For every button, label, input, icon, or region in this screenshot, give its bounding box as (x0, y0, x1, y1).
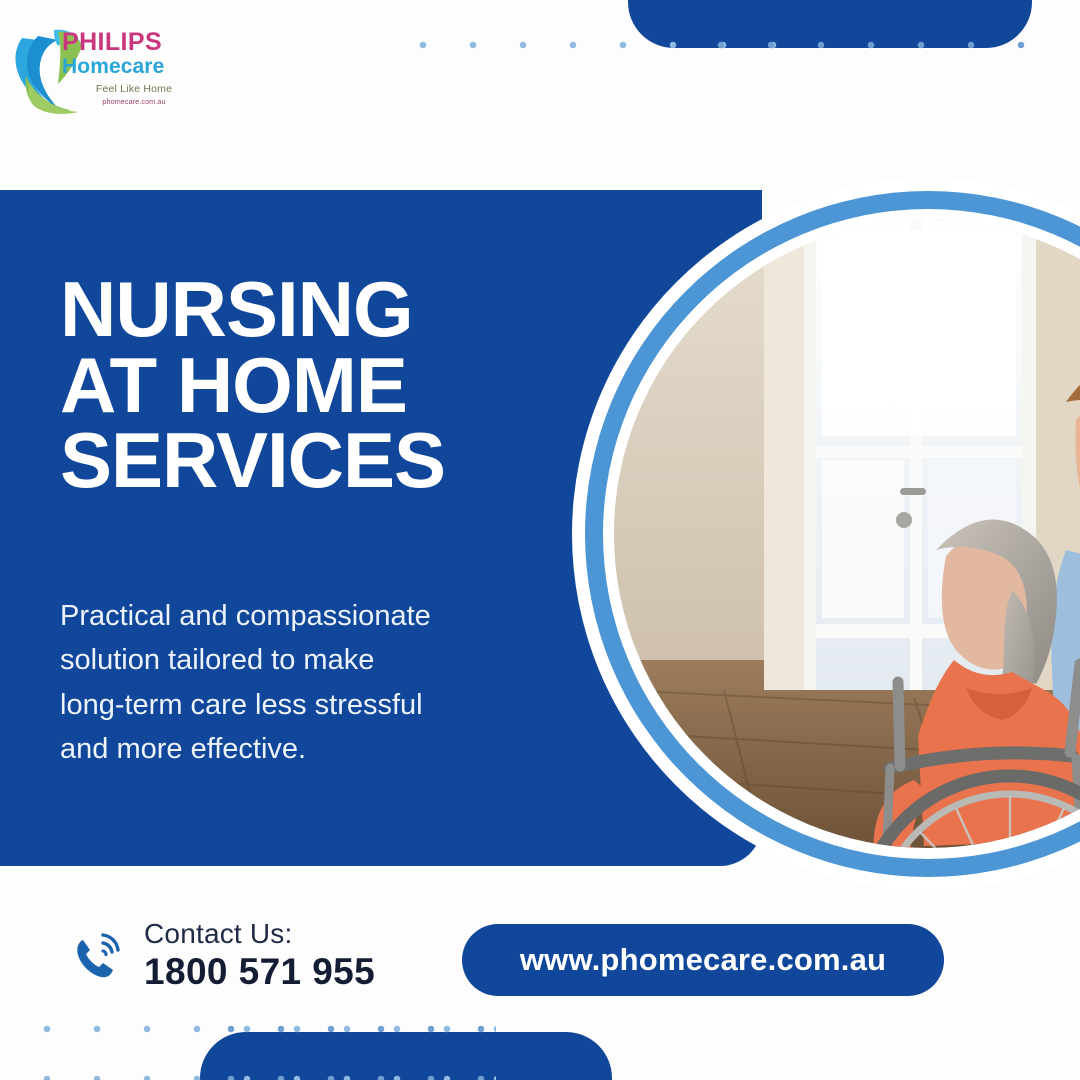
contact-block[interactable]: Contact Us: 1800 571 955 (70, 920, 375, 990)
phone-call-icon (70, 928, 124, 982)
website-button[interactable]: www.phomecare.com.au (462, 924, 944, 996)
logo-url: phomecare.com.au (76, 97, 192, 106)
logo-tagline: Feel Like Home (76, 83, 192, 95)
logo-wordmark: PHILIPS Homecare Feel Like Home phomecar… (62, 30, 192, 106)
poster-canvas: PHILIPS Homecare Feel Like Home phomecar… (0, 0, 1080, 1080)
page-title: NURSING AT HOME SERVICES (60, 272, 620, 499)
contact-text-group: Contact Us: 1800 571 955 (144, 920, 375, 990)
subtitle-line-2: solution tailored to make (60, 638, 580, 682)
logo-name-homecare: Homecare (62, 56, 192, 79)
logo-name-philips: PHILIPS (62, 30, 192, 56)
page-subtitle: Practical and compassionate solution tai… (60, 594, 580, 771)
headline-line-3: SERVICES (60, 423, 620, 499)
headline-line-1: NURSING (60, 272, 620, 348)
brand-logo[interactable]: PHILIPS Homecare Feel Like Home phomecar… (14, 22, 192, 134)
contact-phone-number[interactable]: 1800 571 955 (144, 953, 375, 990)
headline-line-2: AT HOME (60, 348, 620, 424)
subtitle-line-4: and more effective. (60, 727, 580, 771)
rounded-blue-shape-top (628, 0, 1032, 48)
website-button-label: www.phomecare.com.au (520, 942, 886, 978)
subtitle-line-1: Practical and compassionate (60, 594, 580, 638)
contact-label: Contact Us: (144, 920, 375, 948)
subtitle-line-3: long-term care less stressful (60, 683, 580, 727)
rounded-blue-shape-bottom (200, 1032, 612, 1080)
